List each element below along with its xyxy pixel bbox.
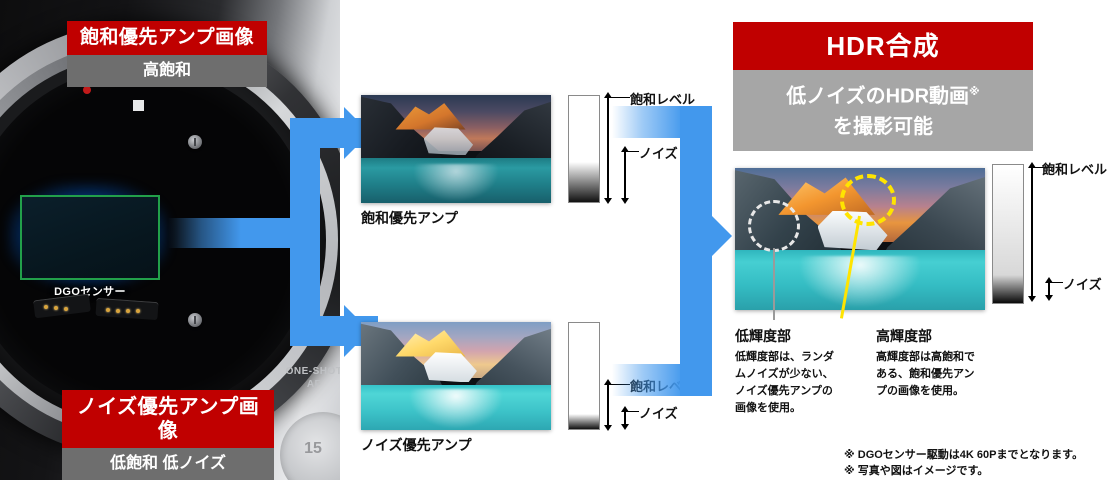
hdr-header-title: HDR合成 bbox=[733, 22, 1033, 70]
contact-pin-icon bbox=[126, 309, 130, 313]
hdr-header: HDR合成 低ノイズのHDR動画※ を撮影可能 bbox=[733, 22, 1033, 151]
gauge-bar bbox=[568, 95, 600, 203]
badge-noise-subtitle: 低飽和 低ノイズ bbox=[62, 448, 274, 480]
footnote-2: ※ 写真や図はイメージです。 bbox=[844, 463, 1083, 479]
photo-noise-priority bbox=[361, 322, 551, 430]
gauge-noise-arrow-down-icon bbox=[621, 424, 629, 430]
badge-saturation-title: 飽和優先アンプ画像 bbox=[67, 21, 267, 55]
gauge-saturation-label: 飽和レベル bbox=[1042, 159, 1107, 178]
footnote-1: ※ DGOセンサー駆動は4K 60Pまでとなります。 bbox=[844, 447, 1083, 463]
footnotes: ※ DGOセンサー駆動は4K 60Pまでとなります。 ※ 写真や図はイメージです… bbox=[844, 447, 1083, 479]
dgo-sensor-rectangle bbox=[20, 195, 160, 280]
arrow-head-merge-icon bbox=[706, 210, 732, 262]
gauge-noise-label: ノイズ bbox=[1063, 274, 1102, 293]
photo-reflection bbox=[414, 164, 498, 201]
gauge-bar bbox=[992, 164, 1024, 304]
annotation-title-high-luminance: 高輝度部 bbox=[876, 326, 932, 346]
caption-noise-priority: ノイズ優先アンプ bbox=[361, 435, 472, 455]
gauge-signal-region bbox=[569, 96, 599, 162]
annotation-circle-high-luminance bbox=[840, 174, 896, 226]
gauge-noise-arrow-down-icon bbox=[1045, 295, 1053, 301]
badge-noise-title: ノイズ優先アンプ画像 bbox=[62, 390, 274, 448]
af-mode-line2: AF bbox=[282, 378, 340, 391]
arrow-sensor-split bbox=[168, 110, 368, 372]
contact-pin-icon bbox=[44, 305, 48, 309]
gauge-saturation-span-line bbox=[607, 98, 609, 200]
contact-pin-icon bbox=[54, 306, 58, 310]
gauge-saturation-arrow-down-icon bbox=[604, 425, 612, 431]
infographic-root: DGOセンサー ONE-SHOT AF 15 飽和優先アンプ画像 高飽和 ノイズ… bbox=[0, 0, 1120, 480]
gauge-noise-region bbox=[569, 162, 599, 202]
gauge-saturation-arrow-down-icon bbox=[1028, 296, 1036, 302]
contact-pin-icon bbox=[64, 307, 68, 311]
photo-reflection bbox=[410, 389, 501, 428]
gauge-saturation-span-line bbox=[1031, 168, 1033, 298]
photo-saturation-priority bbox=[361, 95, 551, 203]
hdr-subtitle-line2: を撮影可能 bbox=[833, 116, 933, 138]
gauge-bar bbox=[568, 322, 600, 430]
gauge-signal-region bbox=[993, 165, 1023, 275]
contact-pin-icon bbox=[106, 308, 110, 312]
annotation-body-low-luminance: 低輝度部は、ランダムノイズが少ない、ノイズ優先アンプの画像を使用。 bbox=[735, 349, 843, 417]
gauge-noise-region bbox=[569, 414, 599, 429]
gauge-saturation-span-line bbox=[607, 385, 609, 427]
gauge-headroom-region bbox=[569, 323, 599, 382]
camera-dial-value: 15 bbox=[280, 440, 340, 458]
annotation-circle-low-luminance bbox=[748, 200, 800, 252]
lens-mount-index-square-icon bbox=[133, 100, 144, 111]
caption-saturation-priority: 飽和優先アンプ bbox=[361, 208, 458, 228]
arrow-hdr-merge bbox=[612, 106, 732, 418]
lens-mount-index-dot-icon bbox=[83, 86, 91, 94]
gauge-noise-leader bbox=[1049, 282, 1063, 283]
hdr-header-subtitle: 低ノイズのHDR動画※ を撮影可能 bbox=[733, 70, 1033, 151]
hdr-subtitle-line1: 低ノイズのHDR動画 bbox=[786, 86, 969, 108]
gauge-noise-region bbox=[993, 275, 1023, 303]
leader-line-low-luminance bbox=[773, 248, 775, 320]
gauge-signal-region bbox=[569, 382, 599, 414]
gauge-saturation-leader bbox=[608, 97, 630, 98]
annotation-body-high-luminance: 高輝度部は高飽和である、飽和優先アンプの画像を使用。 bbox=[876, 349, 984, 400]
badge-saturation-priority: 飽和優先アンプ画像 高飽和 bbox=[67, 21, 267, 87]
dgo-sensor-label: DGOセンサー bbox=[10, 283, 170, 299]
arrow-split-spine bbox=[290, 118, 320, 346]
photo-reflection bbox=[800, 256, 920, 307]
badge-noise-priority: ノイズ優先アンプ画像 低飽和 低ノイズ bbox=[62, 390, 274, 480]
badge-saturation-subtitle: 高飽和 bbox=[67, 55, 267, 87]
contact-pin-icon bbox=[116, 309, 120, 313]
contact-pin-icon bbox=[136, 309, 140, 313]
gauge-saturation-arrow-down-icon bbox=[604, 198, 612, 204]
hdr-subtitle-footnote-mark: ※ bbox=[969, 86, 980, 98]
annotation-title-low-luminance: 低輝度部 bbox=[735, 326, 791, 346]
